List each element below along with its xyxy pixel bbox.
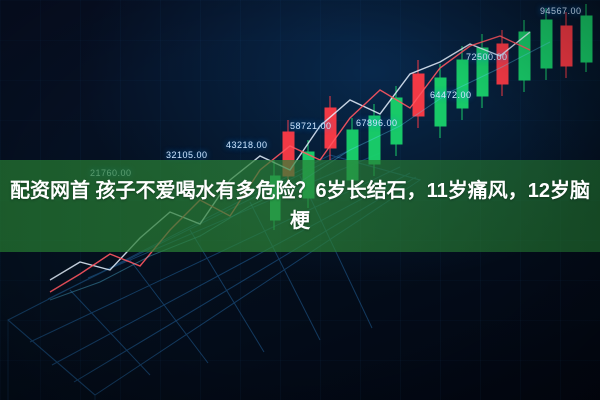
- price-label-1: 94567.00: [540, 6, 582, 16]
- price-label-7: 32105.00: [166, 150, 208, 160]
- price-label-6: 43218.00: [226, 140, 268, 150]
- chart-canvas: 94567.00 72500.00 64472.00 67896.00 5872…: [0, 0, 600, 400]
- price-label-2: 72500.00: [466, 52, 508, 62]
- headline-text: 配资网首 孩子不爱喝水有多危险？6岁长结石，11岁痛风，12岁脑梗: [0, 160, 600, 252]
- price-label-4: 67896.00: [356, 118, 398, 128]
- price-label-3: 64472.00: [430, 90, 472, 100]
- price-label-5: 58721.00: [290, 121, 332, 131]
